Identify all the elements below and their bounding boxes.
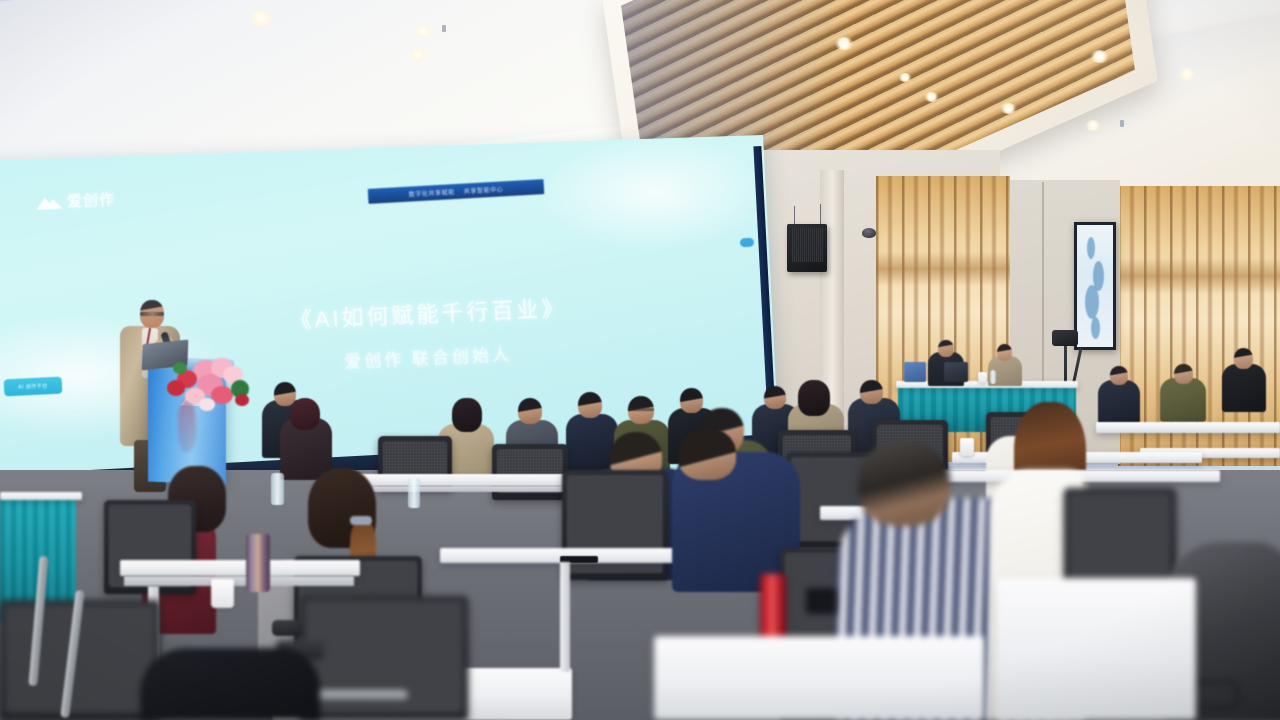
slide-accent-dot [740,238,754,248]
purple-tumbler [246,534,270,592]
water-bottle [990,370,996,384]
hall-banner-left-text: 数字化共享赋能 [408,187,455,199]
sprinkler-head-icon [1120,120,1124,127]
paper-cup [978,372,987,383]
pa-speaker-icon [787,224,827,272]
attendee-navy-blazer-fg-head [678,428,736,480]
attendee-rear-navy-head [1110,366,1128,385]
attendee-dark-foreground-left [140,648,320,720]
downlight-icon [412,24,434,38]
staff-male-head [938,340,954,357]
registration-table-top [896,381,1078,388]
ink-scroll-painting [1077,225,1113,347]
hair-tie [350,516,372,525]
attendee-rear-suit-head [860,380,883,404]
table-leg [560,562,570,672]
video-camera-icon [1052,330,1078,346]
sprinkler-head-icon [442,25,446,32]
brand-logo-text: 爱创作 [66,188,115,211]
attendee-rear-black-jacket [1222,364,1266,412]
curtain-shadow-band [876,252,1010,286]
table-apron [350,486,594,492]
attendee-rear-olive [1160,378,1206,422]
downlight-icon [924,92,939,102]
slide-badge-left-text: AI 创作平台 [18,382,48,390]
downlight-icon [898,73,912,82]
slide-badge-left: AI 创作平台 [4,377,63,397]
table-row-3b [996,578,1196,720]
attendee-navy-jacket-head [578,392,602,418]
attendee-dark-back-head [680,388,703,413]
downlight-icon [248,10,274,27]
paper-cup [960,438,974,456]
paper-cup [211,579,234,608]
speaker-hanger [794,206,795,226]
attendee-beige-coat-head [452,398,482,432]
eyeglasses-icon [140,312,164,316]
attendee-rear-navy [1098,380,1140,424]
eyeglasses-icon [628,408,654,411]
water-bottle [271,473,284,505]
table-row-3 [654,636,984,720]
table-apron [124,576,354,586]
downlight-icon [408,48,428,61]
dome-security-camera-icon [862,228,876,238]
downlight-icon [834,37,854,50]
attendee-striped-shirt-head [858,440,950,526]
table-row-2 [120,560,360,576]
staff-female-head [997,344,1012,361]
flower-arrangement [167,356,251,412]
attendee-long-hair-tan-head [798,380,830,416]
downlight-icon [1000,103,1017,114]
chair [562,470,668,580]
speaker-hanger [820,204,821,226]
staff-male-laptop [904,362,926,382]
attendee-grey-shirt-head [518,398,542,424]
table-rear-right [1096,422,1280,433]
attendee-maroon-hair-head [290,398,320,430]
side-table-left [0,492,82,500]
downlight-icon [1178,68,1196,80]
table-row-1 [348,474,598,486]
artwork-frame [1074,222,1116,350]
mountain-triangle-mark-icon [36,194,63,210]
downlight-icon [1090,50,1109,63]
curtain-shadow-band [1118,258,1280,294]
smartphone [806,588,836,614]
water-bottle [408,478,420,508]
hall-banner-right-text: 共享智能中心 [464,184,504,195]
downlight-icon [1085,120,1101,131]
brand-logo: 爱创作 [36,188,116,213]
attendee-far-right-1-head [764,386,786,409]
conference-hall-photo: 爱创作 《AI如何赋能千行百业》 爱创作 联合创始人 AI 创作平台 数字化共享… [0,0,1280,720]
chair [300,596,468,720]
attendee-rear-black-head [1234,348,1253,369]
attendee-rear-olive-head [1174,364,1193,384]
staff-male-laptop-2 [944,362,968,382]
